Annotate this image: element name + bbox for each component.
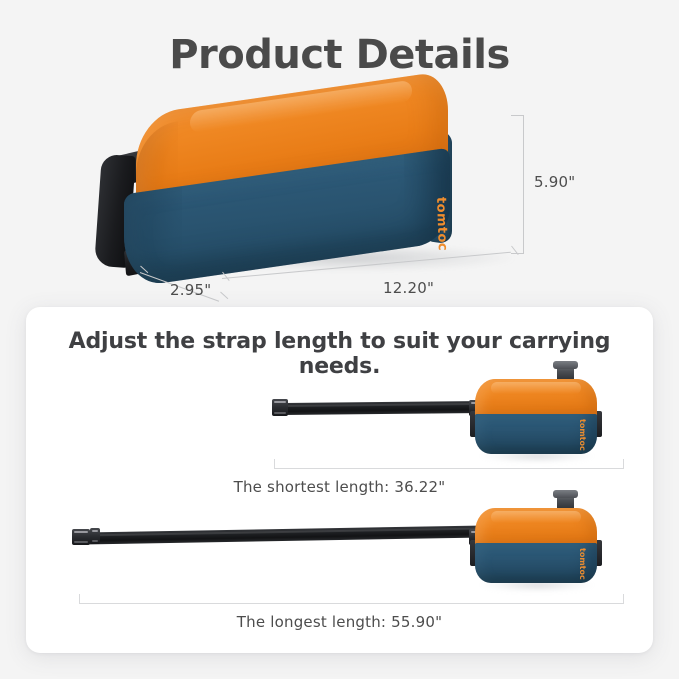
long-strap-adjuster-buckle bbox=[72, 529, 90, 545]
longest-bracket-tick-right bbox=[623, 594, 624, 604]
strap-adjustment-card: Adjust the strap length to suit your car… bbox=[26, 307, 653, 653]
page-title: Product Details bbox=[0, 32, 679, 78]
shortest-bracket-tick-left bbox=[274, 459, 275, 469]
longest-bracket-tick-left bbox=[79, 594, 80, 604]
short-strap-adjuster-buckle bbox=[272, 399, 288, 416]
mini-bag-orange-body bbox=[475, 508, 597, 545]
product-detail-page: Product Details tomtoc 5.90" bbox=[0, 0, 679, 679]
long-strap-belt bbox=[81, 525, 486, 544]
depth-tick-right bbox=[220, 292, 228, 299]
brand-logo-mini-longest: tomtoc bbox=[578, 548, 587, 580]
height-dimension-label: 5.90" bbox=[534, 173, 575, 191]
mini-bag-shortest: tomtoc bbox=[475, 379, 597, 463]
height-dimension-line bbox=[523, 115, 524, 254]
mini-bag-longest: tomtoc bbox=[475, 508, 597, 592]
brand-logo-hero: tomtoc bbox=[433, 197, 450, 251]
brand-logo-mini-shortest: tomtoc bbox=[578, 419, 587, 451]
shortest-bracket-line bbox=[274, 468, 624, 469]
shortest-bracket-tick-right bbox=[623, 459, 624, 469]
long-strap-keeper-loop bbox=[90, 528, 100, 544]
longest-length-caption: The longest length: 55.90" bbox=[26, 613, 653, 631]
width-dimension-label: 12.20" bbox=[383, 279, 434, 297]
height-tick-top bbox=[511, 115, 524, 116]
depth-dimension-label: 2.95" bbox=[170, 281, 211, 299]
hero-section: Product Details tomtoc 5.90" bbox=[0, 0, 679, 310]
mini-bag-orange-body bbox=[475, 379, 597, 416]
longest-bracket-line bbox=[79, 603, 624, 604]
short-strap-belt bbox=[281, 401, 486, 415]
